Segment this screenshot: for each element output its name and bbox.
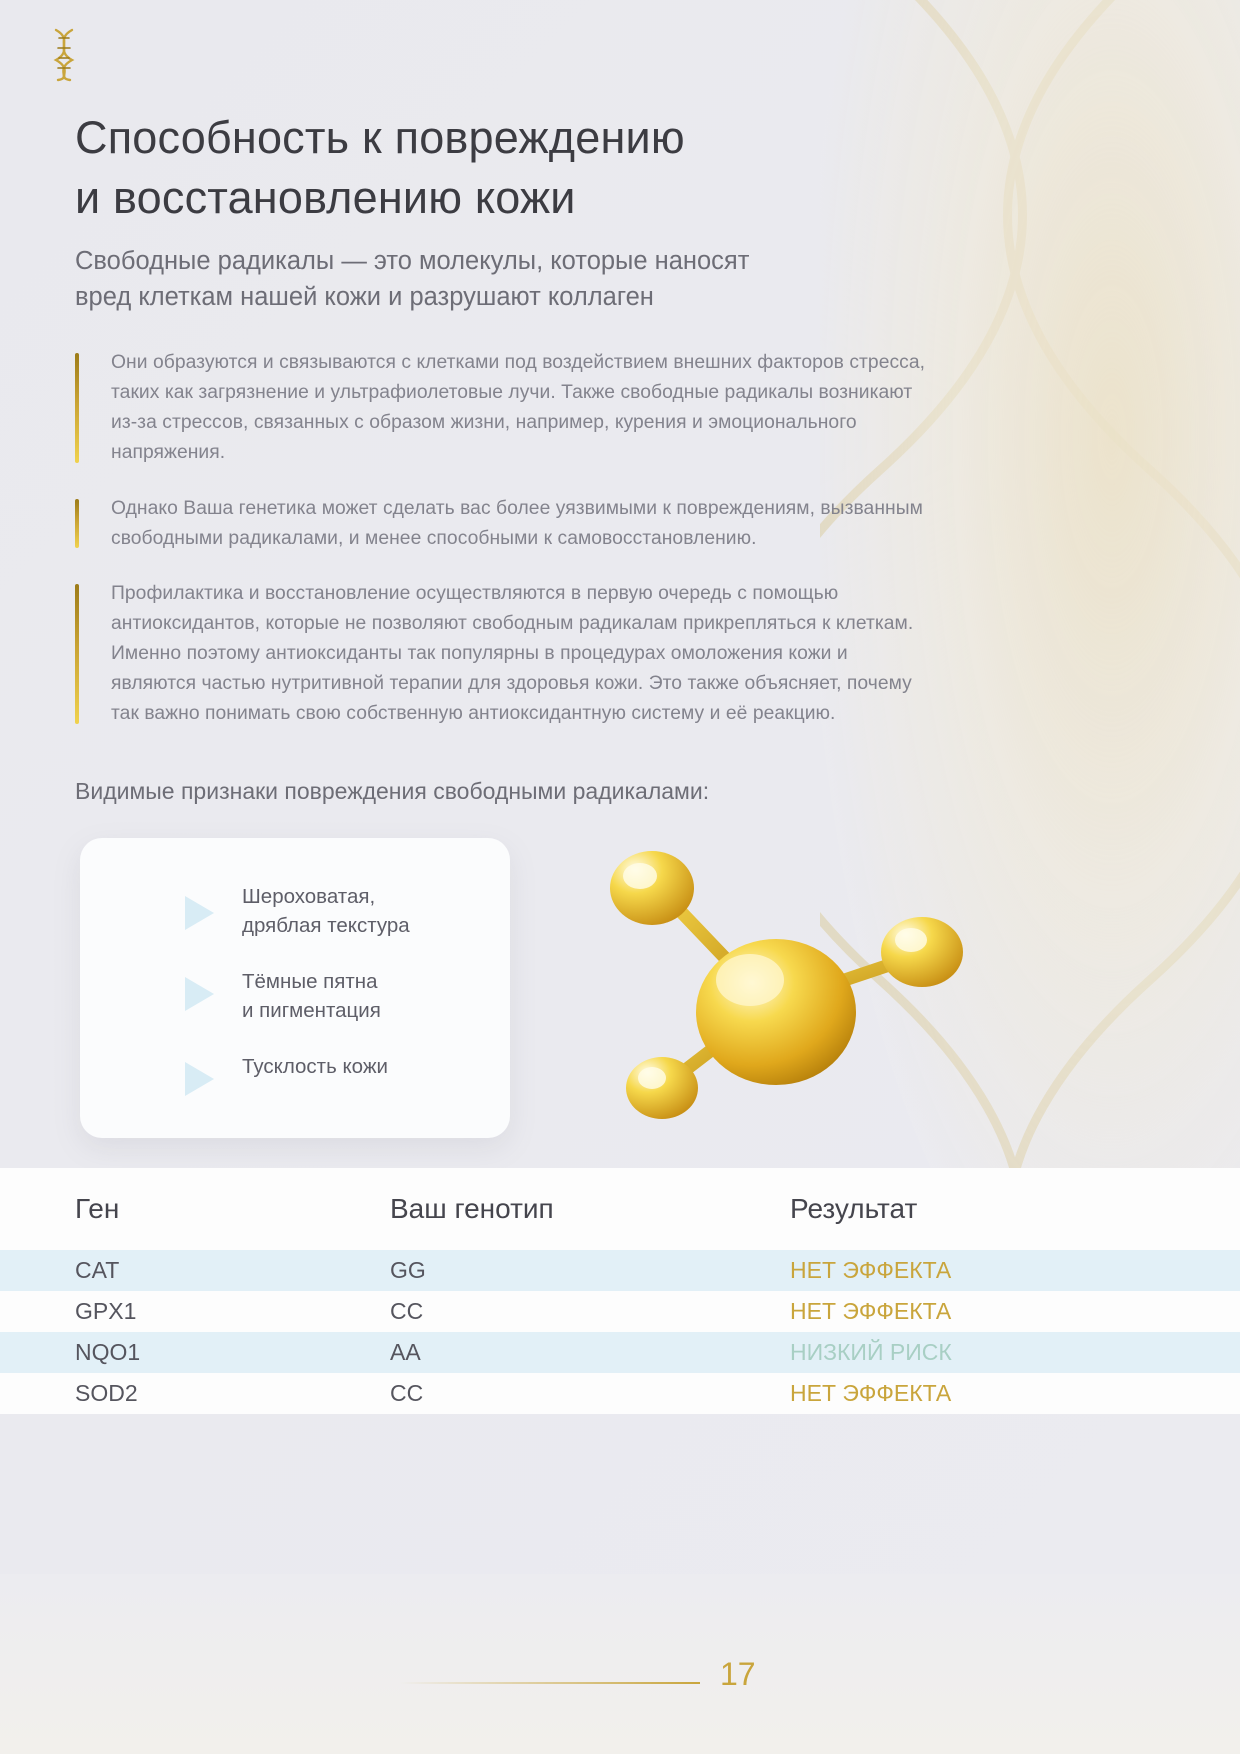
cell-gene: NQO1	[75, 1339, 390, 1366]
visible-signs-card: Шероховатая, дряблая текстура Тёмные пят…	[80, 838, 510, 1138]
sign-item-label: Тёмные пятна и пигментация	[242, 967, 381, 1025]
dna-logo-icon	[42, 26, 86, 82]
column-header-genotype: Ваш генотип	[390, 1193, 790, 1225]
table-row: NQO1 AA НИЗКИЙ РИСК	[0, 1332, 1240, 1373]
sign-item-label: Шероховатая, дряблая текстура	[242, 882, 410, 940]
info-block-text: Однако Ваша генетика может сделать вас б…	[111, 494, 935, 554]
gold-molecule-illustration	[570, 830, 1020, 1150]
cell-gene: CAT	[75, 1257, 390, 1284]
page-number: 17	[720, 1656, 756, 1693]
cell-genotype: GG	[390, 1257, 790, 1284]
cell-genotype: AA	[390, 1339, 790, 1366]
cell-gene: SOD2	[75, 1380, 390, 1407]
info-blocks: Они образуются и связываются с клетками …	[75, 348, 935, 755]
cell-result: НЕТ ЭФФЕКТА	[790, 1257, 1240, 1284]
table-row: CAT GG НЕТ ЭФФЕКТА	[0, 1250, 1240, 1291]
sign-item: Тусклость кожи	[80, 1052, 510, 1096]
gold-accent-bar	[75, 499, 79, 549]
cell-genotype: CC	[390, 1298, 790, 1325]
gold-accent-bar	[75, 353, 79, 463]
column-header-gene: Ген	[75, 1193, 390, 1225]
page-subtitle: Свободные радикалы — это молекулы, котор…	[75, 243, 945, 315]
page-title-line1: Способность к повреждению	[75, 112, 685, 163]
info-block-text: Профилактика и восстановление осуществля…	[111, 579, 935, 729]
footer-divider	[400, 1682, 700, 1684]
visible-signs-heading: Видимые признаки повреждения свободными …	[75, 778, 709, 805]
info-block: Однако Ваша генетика может сделать вас б…	[75, 494, 935, 554]
cell-result: НЕТ ЭФФЕКТА	[790, 1380, 1240, 1407]
info-block: Они образуются и связываются с клетками …	[75, 348, 935, 468]
sign-item: Тёмные пятна и пигментация	[80, 967, 510, 1025]
column-header-result: Результат	[790, 1193, 1240, 1225]
triangle-bullet-icon	[185, 896, 214, 930]
page-footer: 17	[0, 1574, 1240, 1754]
genotype-results-table: Ген Ваш генотип Результат CAT GG НЕТ ЭФФ…	[0, 1168, 1240, 1414]
cell-result: НЕТ ЭФФЕКТА	[790, 1298, 1240, 1325]
page-title-line2: и восстановлению кожи	[75, 172, 576, 223]
sign-item: Шероховатая, дряблая текстура	[80, 882, 510, 940]
info-block-text: Они образуются и связываются с клетками …	[111, 348, 935, 468]
page-title: Способность к повреждению и восстановлен…	[75, 108, 955, 228]
sign-item-label: Тусклость кожи	[242, 1052, 388, 1081]
cell-genotype: CC	[390, 1380, 790, 1407]
table-row: SOD2 CC НЕТ ЭФФЕКТА	[0, 1373, 1240, 1414]
report-page: Способность к повреждению и восстановлен…	[0, 0, 1240, 1754]
table-header-row: Ген Ваш генотип Результат	[0, 1168, 1240, 1250]
triangle-bullet-icon	[185, 1062, 214, 1096]
cell-result: НИЗКИЙ РИСК	[790, 1339, 1240, 1366]
cell-gene: GPX1	[75, 1298, 390, 1325]
gold-accent-bar	[75, 584, 79, 724]
table-row: GPX1 CC НЕТ ЭФФЕКТА	[0, 1291, 1240, 1332]
info-block: Профилактика и восстановление осуществля…	[75, 579, 935, 729]
triangle-bullet-icon	[185, 977, 214, 1011]
